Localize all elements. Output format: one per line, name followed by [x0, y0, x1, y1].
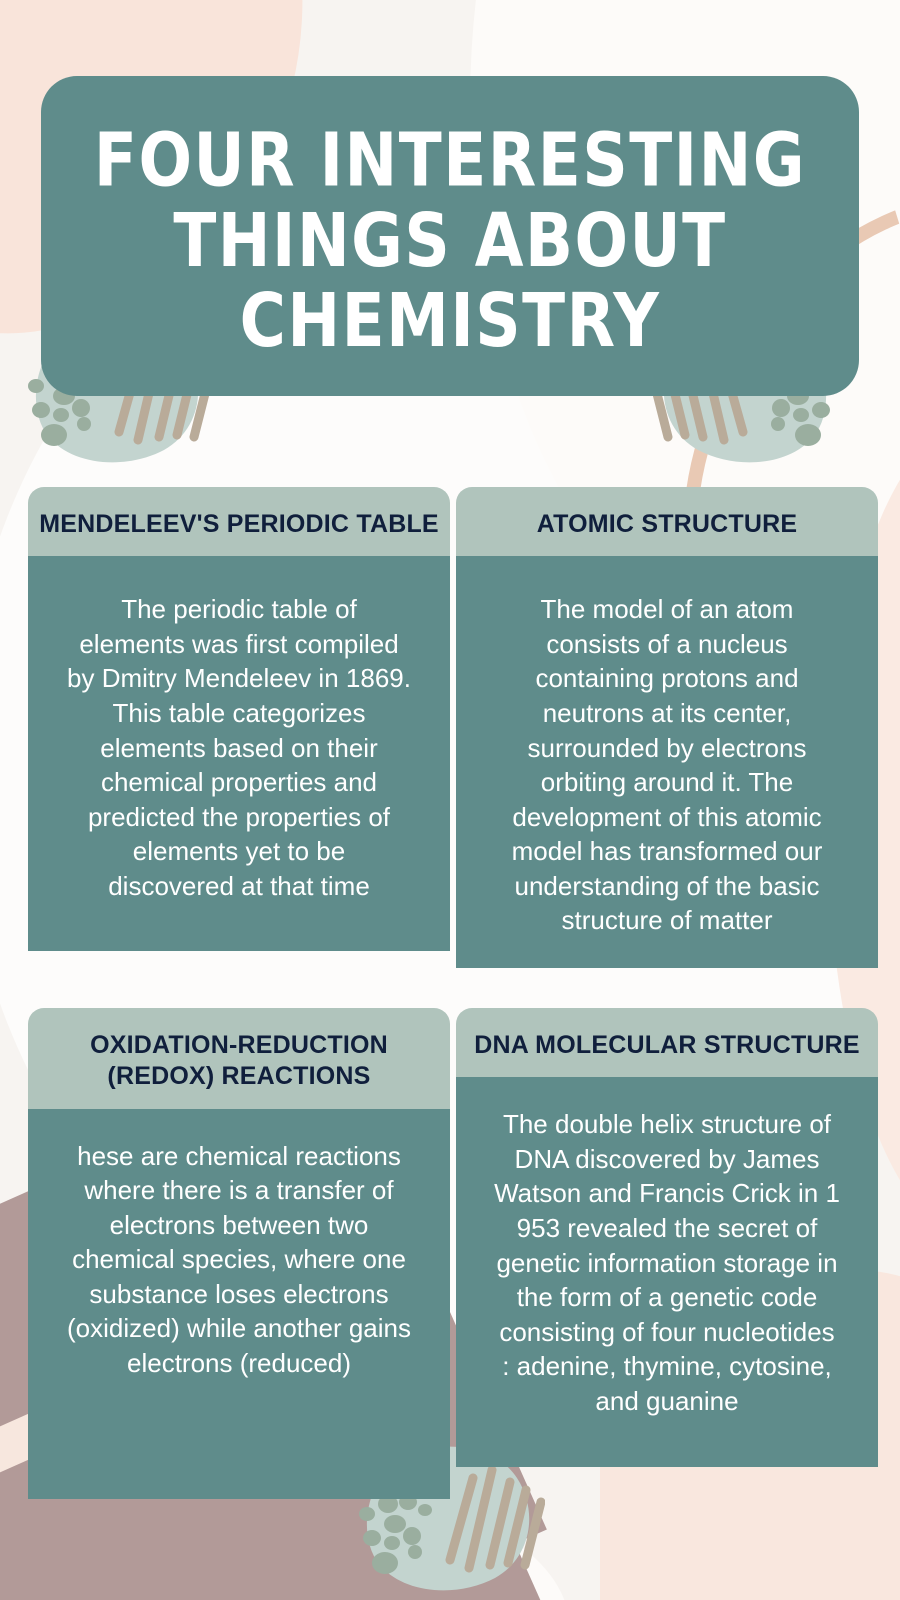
- card-heading: ATOMIC STRUCTURE: [456, 487, 878, 556]
- card-dna-molecular-structure: DNA MOLECULAR STRUCTURE The double helix…: [456, 1008, 878, 1467]
- card-body: The periodic table of elements was first…: [28, 556, 450, 951]
- card-body: hese are chemical reactions where there …: [28, 1109, 450, 1499]
- poster-title-card: FOUR INTERESTING THINGS ABOUT CHEMISTRY: [41, 76, 859, 396]
- card-body: The model of an atom consists of a nucle…: [456, 556, 878, 968]
- card-mendeleevs-periodic-table: MENDELEEV'S PERIODIC TABLE The periodic …: [28, 487, 450, 951]
- poster-title: FOUR INTERESTING THINGS ABOUT CHEMISTRY: [64, 76, 836, 362]
- pale-circle-bottom-center: [150, 1500, 570, 1600]
- card-heading: OXIDATION-REDUCTION (REDOX) REACTIONS: [28, 1008, 450, 1109]
- card-body: The double helix structure of DNA discov…: [456, 1077, 878, 1467]
- infographic-poster: FOUR INTERESTING THINGS ABOUT CHEMISTRY …: [0, 0, 900, 1600]
- card-heading: DNA MOLECULAR STRUCTURE: [456, 1008, 878, 1077]
- card-atomic-structure: ATOMIC STRUCTURE The model of an atom co…: [456, 487, 878, 968]
- card-heading: MENDELEEV'S PERIODIC TABLE: [28, 487, 450, 556]
- card-oxidation-reduction-redox-reactions: OXIDATION-REDUCTION (REDOX) REACTIONS he…: [28, 1008, 450, 1499]
